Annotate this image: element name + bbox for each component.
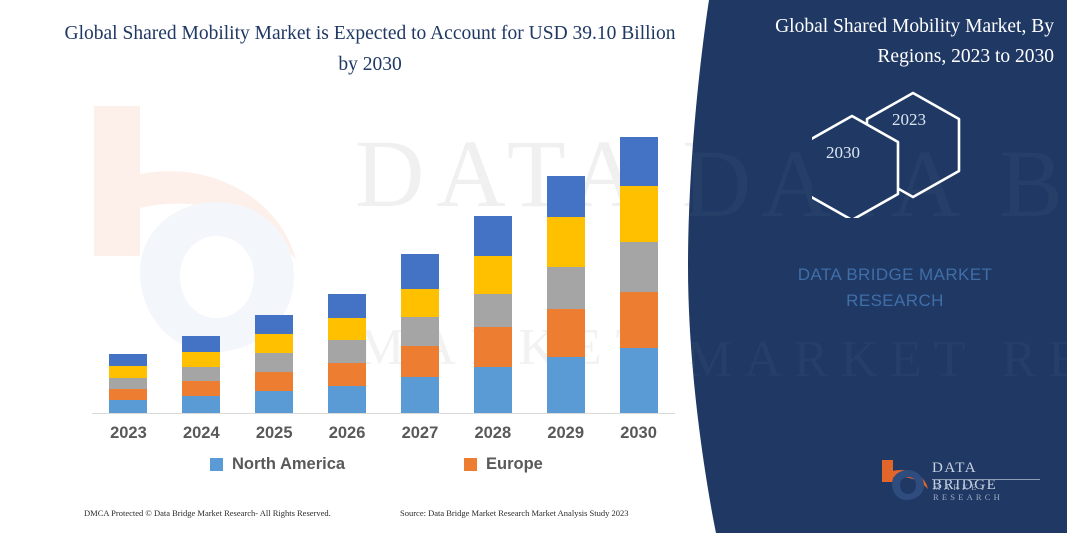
bar-segment xyxy=(547,267,585,309)
bar-segment xyxy=(255,372,293,391)
legend-label: Europe xyxy=(486,455,543,474)
bar-segment xyxy=(328,386,366,413)
panel-watermark-line2: MARKET RESEARCH xyxy=(686,330,1067,389)
bar-column xyxy=(109,354,147,413)
bar-segment xyxy=(401,289,439,317)
bar-column xyxy=(255,315,293,413)
infographic-root: DATA BRIDGE MARKET RESEARCH Global Share… xyxy=(0,0,1067,533)
bar-segment xyxy=(474,294,512,327)
legend-swatch-icon xyxy=(210,458,223,471)
hexagon-label-back: 2030 xyxy=(826,143,860,163)
bar-segment xyxy=(547,309,585,357)
x-axis-label: 2029 xyxy=(531,424,601,443)
bar-segment xyxy=(182,367,220,381)
bar-segment xyxy=(328,363,366,386)
x-axis-label: 2027 xyxy=(385,424,455,443)
bar-segment xyxy=(547,357,585,413)
bar-column xyxy=(401,254,439,413)
bar-column xyxy=(328,294,366,413)
chart-plot-area xyxy=(92,128,675,414)
panel-brand-line2: RESEARCH xyxy=(740,288,1050,314)
logo-divider xyxy=(932,479,1040,480)
hexagon-group: 2030 2023 xyxy=(812,88,1012,218)
bar-segment xyxy=(109,400,147,413)
x-axis-label: 2025 xyxy=(239,424,309,443)
bar-segment xyxy=(401,254,439,289)
x-axis-label: 2028 xyxy=(458,424,528,443)
bar-column xyxy=(620,137,658,413)
bar-segment xyxy=(620,137,658,186)
panel-title: Global Shared Mobility Market, By Region… xyxy=(742,12,1054,72)
footer-source: Source: Data Bridge Market Research Mark… xyxy=(400,508,629,518)
bar-segment xyxy=(474,367,512,413)
legend-item[interactable]: Europe xyxy=(464,455,543,474)
bar-segment xyxy=(182,336,220,352)
bar-segment xyxy=(547,176,585,217)
legend-label: North America xyxy=(232,455,345,474)
bar-segment xyxy=(474,256,512,294)
x-axis-labels: 20232024202520262027202820292030 xyxy=(92,424,675,448)
bar-column xyxy=(547,176,585,413)
bar-segment xyxy=(328,340,366,363)
footer-copyright: DMCA Protected © Data Bridge Market Rese… xyxy=(84,508,331,518)
company-logo: DATA BRIDGE MARKET RESEARCH xyxy=(880,455,1045,507)
bar-segment xyxy=(620,242,658,292)
bar-segment xyxy=(620,292,658,348)
bar-segment xyxy=(328,294,366,318)
bar-segment xyxy=(474,216,512,256)
bar-segment xyxy=(401,317,439,346)
logo-b-mark-icon xyxy=(880,457,928,503)
panel-brand-text: DATA BRIDGE MARKET RESEARCH xyxy=(740,262,1050,314)
x-axis-label: 2023 xyxy=(93,424,163,443)
x-axis-line xyxy=(92,413,675,414)
bar-segment xyxy=(401,346,439,377)
bar-segment xyxy=(328,318,366,340)
x-axis-label: 2026 xyxy=(312,424,382,443)
bar-segment xyxy=(109,366,147,378)
bar-segment xyxy=(474,327,512,367)
bar-segment xyxy=(620,186,658,242)
bar-segment xyxy=(547,217,585,267)
chart-title: Global Shared Mobility Market is Expecte… xyxy=(60,18,680,80)
bar-segment xyxy=(182,396,220,413)
panel-brand-line1: DATA BRIDGE MARKET xyxy=(740,262,1050,288)
bar-segment xyxy=(255,353,293,372)
footer: DMCA Protected © Data Bridge Market Rese… xyxy=(0,506,700,526)
bar-column xyxy=(474,216,512,413)
x-axis-label: 2024 xyxy=(166,424,236,443)
bar-segment xyxy=(255,334,293,353)
bar-segment xyxy=(109,354,147,366)
hexagon-label-front: 2023 xyxy=(892,110,926,130)
bar-column xyxy=(182,336,220,413)
x-axis-label: 2030 xyxy=(604,424,674,443)
logo-text-bottom: MARKET RESEARCH xyxy=(933,482,1045,502)
bar-segment xyxy=(620,348,658,413)
bar-segment xyxy=(109,378,147,389)
chart-legend: North AmericaEurope xyxy=(92,455,675,481)
bar-segment xyxy=(182,352,220,367)
legend-swatch-icon xyxy=(464,458,477,471)
hexagon-2030-outline xyxy=(812,116,898,218)
bar-segment xyxy=(182,381,220,396)
bar-segment xyxy=(109,389,147,400)
bar-segment xyxy=(401,377,439,413)
legend-item[interactable]: North America xyxy=(210,455,345,474)
bar-segment xyxy=(255,315,293,334)
bar-segment xyxy=(255,391,293,413)
navy-panel-content: Global Shared Mobility Market, By Region… xyxy=(712,0,1067,533)
